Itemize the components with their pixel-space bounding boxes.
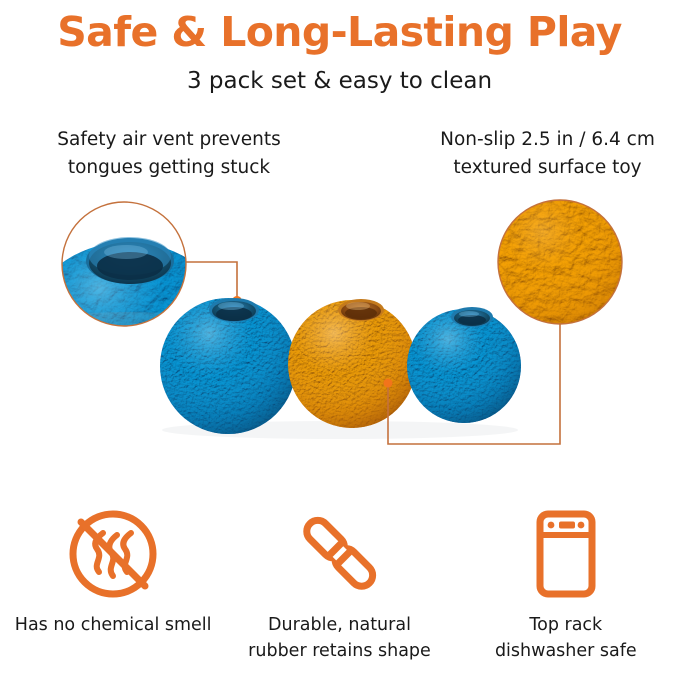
connector-textured-surface [384, 324, 561, 444]
connector-air-vent [186, 262, 242, 306]
page-subtitle: 3 pack set & easy to clean [0, 66, 679, 96]
feature-0-line1: Has no chemical smell [15, 612, 212, 638]
callout-texture-line1: Non-slip 2.5 in / 6.4 cm [420, 126, 675, 154]
connector-dot-air-vent [232, 296, 242, 306]
feature-2-line2: dishwasher safe [495, 638, 637, 664]
feature-caption-dishwasher-safe: Top rack dishwasher safe [495, 612, 637, 664]
connector-dot-textured-surface [384, 379, 393, 388]
page-title: Safe & Long-Lasting Play [0, 6, 679, 58]
feature-caption-durable-rubber: Durable, natural rubber retains shape [248, 612, 431, 664]
dishwasher-icon [514, 498, 618, 610]
feature-caption-no-chemical-smell: Has no chemical smell [15, 612, 212, 638]
product-ball-1 [160, 298, 296, 434]
feature-no-chemical-smell: Has no chemical smell [0, 498, 226, 685]
product-shadow [162, 421, 518, 439]
feature-dishwasher-safe: Top rack dishwasher safe [453, 498, 679, 685]
callout-air-vent-line2: tongues getting stuck [4, 154, 334, 182]
magnifier-ring-air-vent [62, 202, 186, 326]
feature-1-line1: Durable, natural [248, 612, 431, 638]
callout-air-vent-line1: Safety air vent prevents [4, 126, 334, 154]
chain-link-icon [287, 498, 391, 610]
callout-label-air-vent: Safety air vent prevents tongues getting… [4, 126, 334, 182]
no-chemical-smell-icon [61, 498, 165, 610]
callout-label-textured-surface: Non-slip 2.5 in / 6.4 cm textured surfac… [420, 126, 675, 182]
magnifier-textured-surface [498, 200, 622, 324]
callout-texture-line2: textured surface toy [420, 154, 675, 182]
feature-row: Has no chemical smell Durable, natural r… [0, 498, 679, 685]
magnifier-ring-textured-surface [498, 200, 622, 324]
feature-2-line1: Top rack [495, 612, 637, 638]
product-ball-2 [288, 299, 416, 428]
product-ball-3 [407, 307, 521, 423]
feature-1-line2: rubber retains shape [248, 638, 431, 664]
magnifier-air-vent [26, 202, 230, 418]
feature-durable-rubber: Durable, natural rubber retains shape [226, 498, 452, 685]
